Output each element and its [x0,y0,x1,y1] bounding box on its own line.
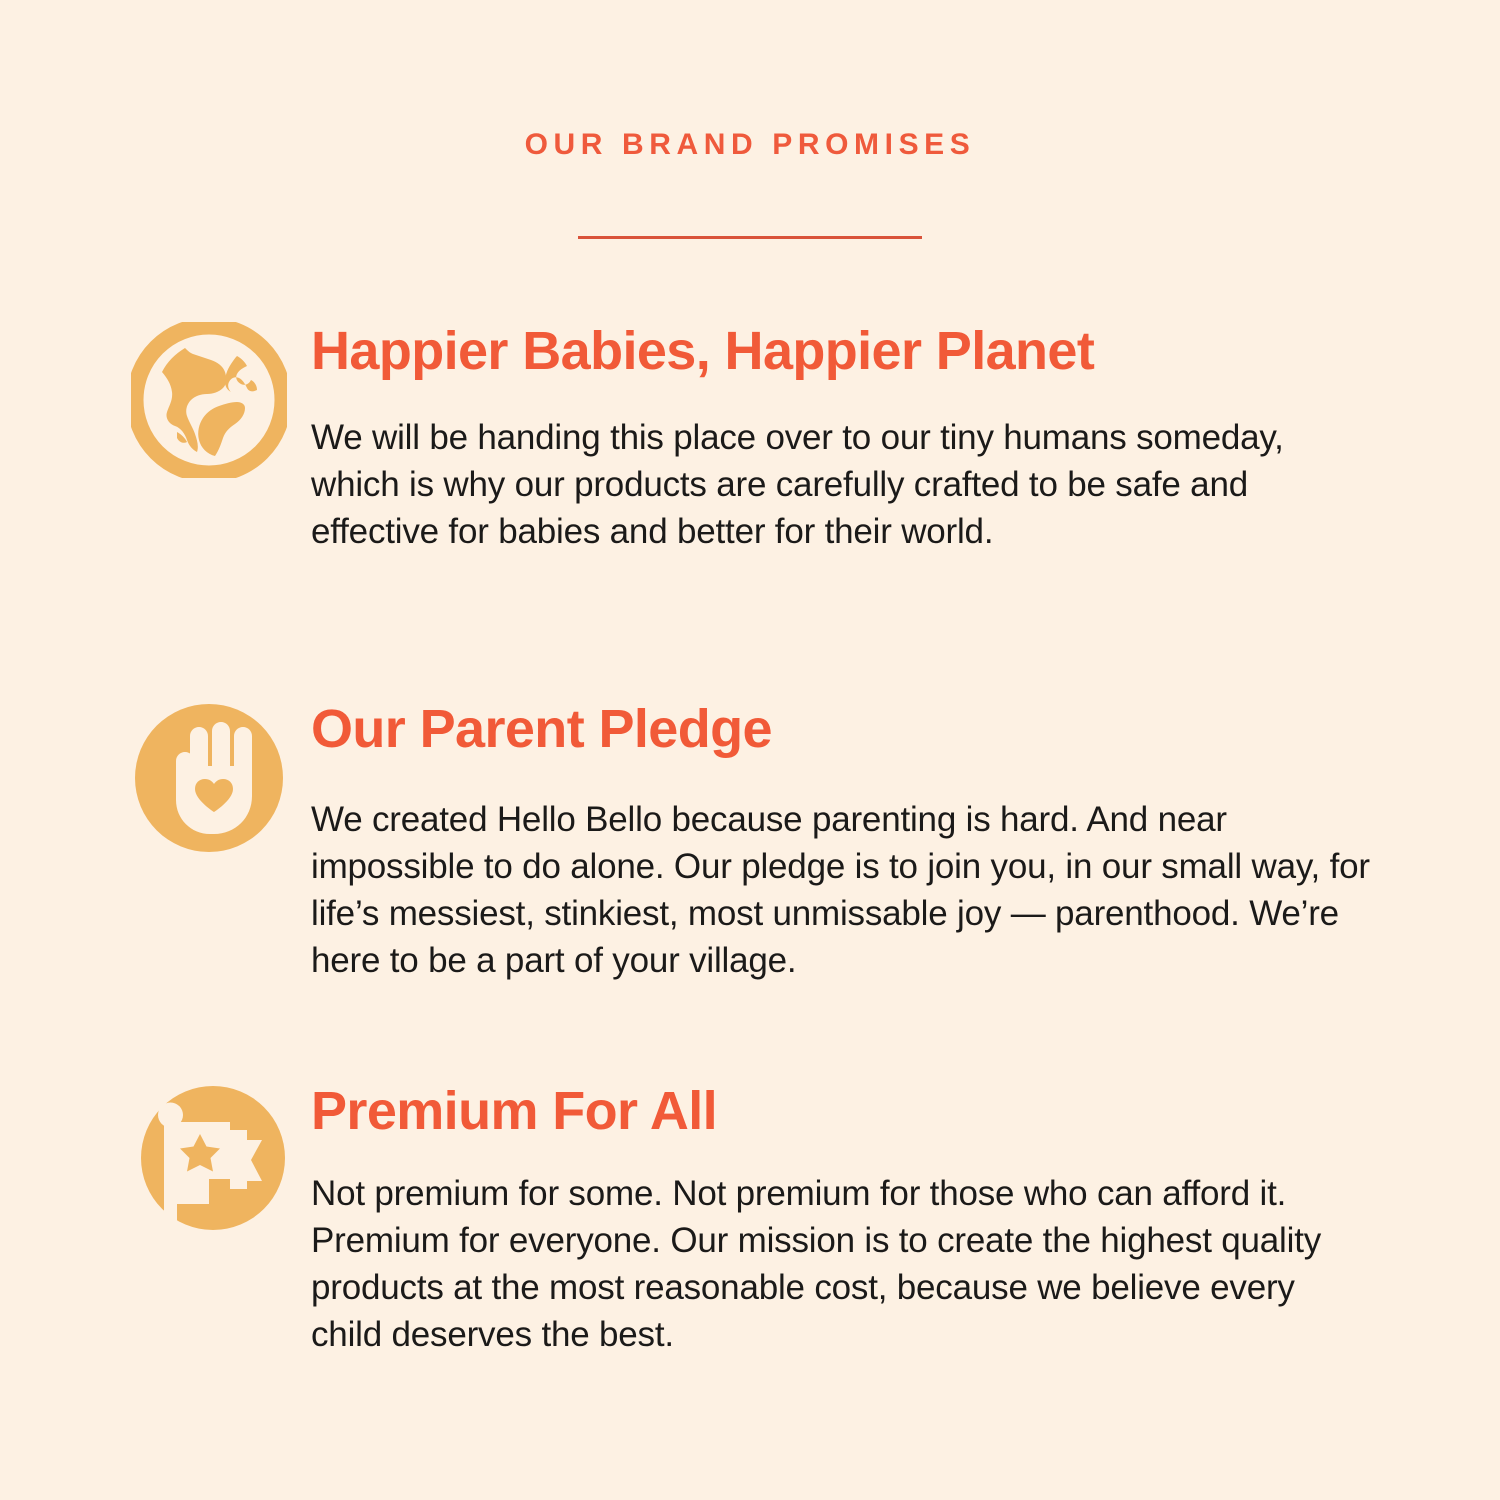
promise-icon-wrapper [131,700,287,856]
promise-title: Our Parent Pledge [311,700,1373,758]
promise-body: We created Hello Bello because parenting… [311,796,1373,984]
promise-body: Not premium for some. Not premium for th… [311,1170,1373,1358]
brand-promises-page: OUR BRAND PROMISES Happier Babies, Happi… [0,0,1500,1500]
promise-body: We will be handing this place over to ou… [311,414,1321,555]
globe-icon [131,322,287,478]
promise-icon-wrapper [131,1082,287,1238]
promise-title: Premium For All [311,1082,1373,1140]
hand-heart-icon [131,700,287,856]
promise-text-wrapper: Our Parent Pledge We created Hello Bello… [311,700,1373,984]
flag-star-icon [131,1082,287,1238]
promise-title: Happier Babies, Happier Planet [311,322,1373,380]
section-eyebrow-wrapper: OUR BRAND PROMISES [0,130,1500,160]
header-divider [578,236,922,239]
promise-icon-wrapper [131,322,287,478]
section-eyebrow: OUR BRAND PROMISES [525,130,976,160]
promise-text-wrapper: Happier Babies, Happier Planet We will b… [311,322,1373,555]
promise-text-wrapper: Premium For All Not premium for some. No… [311,1082,1373,1358]
